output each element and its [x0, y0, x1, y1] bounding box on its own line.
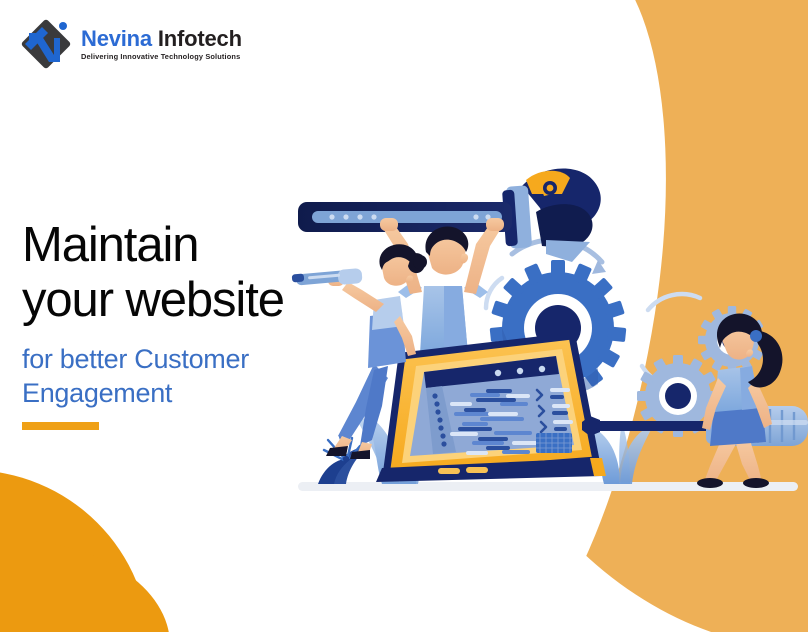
- page-title: Maintain your website: [22, 218, 284, 328]
- brand-logo[interactable]: Nevina Infotech Delivering Innovative Te…: [20, 18, 242, 70]
- marketing-banner: Nevina Infotech Delivering Innovative Te…: [0, 0, 808, 632]
- logo-dot-icon: [59, 22, 67, 30]
- logo-mark-icon: [20, 18, 72, 70]
- logo-company-name: Nevina Infotech: [81, 28, 242, 50]
- illustration-svg: [290, 150, 808, 510]
- page-subtitle: for better Customer Engagement: [22, 342, 284, 411]
- background-corner-orange-shape-secondary: [0, 540, 170, 632]
- logo-name-primary: Nevina: [81, 26, 152, 51]
- telescope-icon: [292, 268, 363, 286]
- logo-name-secondary: Infotech: [158, 26, 242, 51]
- hero-copy-block: Maintain your website for better Custome…: [22, 218, 284, 430]
- accent-underline-bar: [22, 422, 99, 430]
- logo-wordmark: Nevina Infotech Delivering Innovative Te…: [81, 28, 242, 60]
- ground-strip: [298, 482, 798, 491]
- logo-tagline: Delivering Innovative Technology Solutio…: [81, 53, 242, 60]
- hero-illustration: [290, 150, 808, 510]
- laptop-with-code-editor: [376, 336, 606, 482]
